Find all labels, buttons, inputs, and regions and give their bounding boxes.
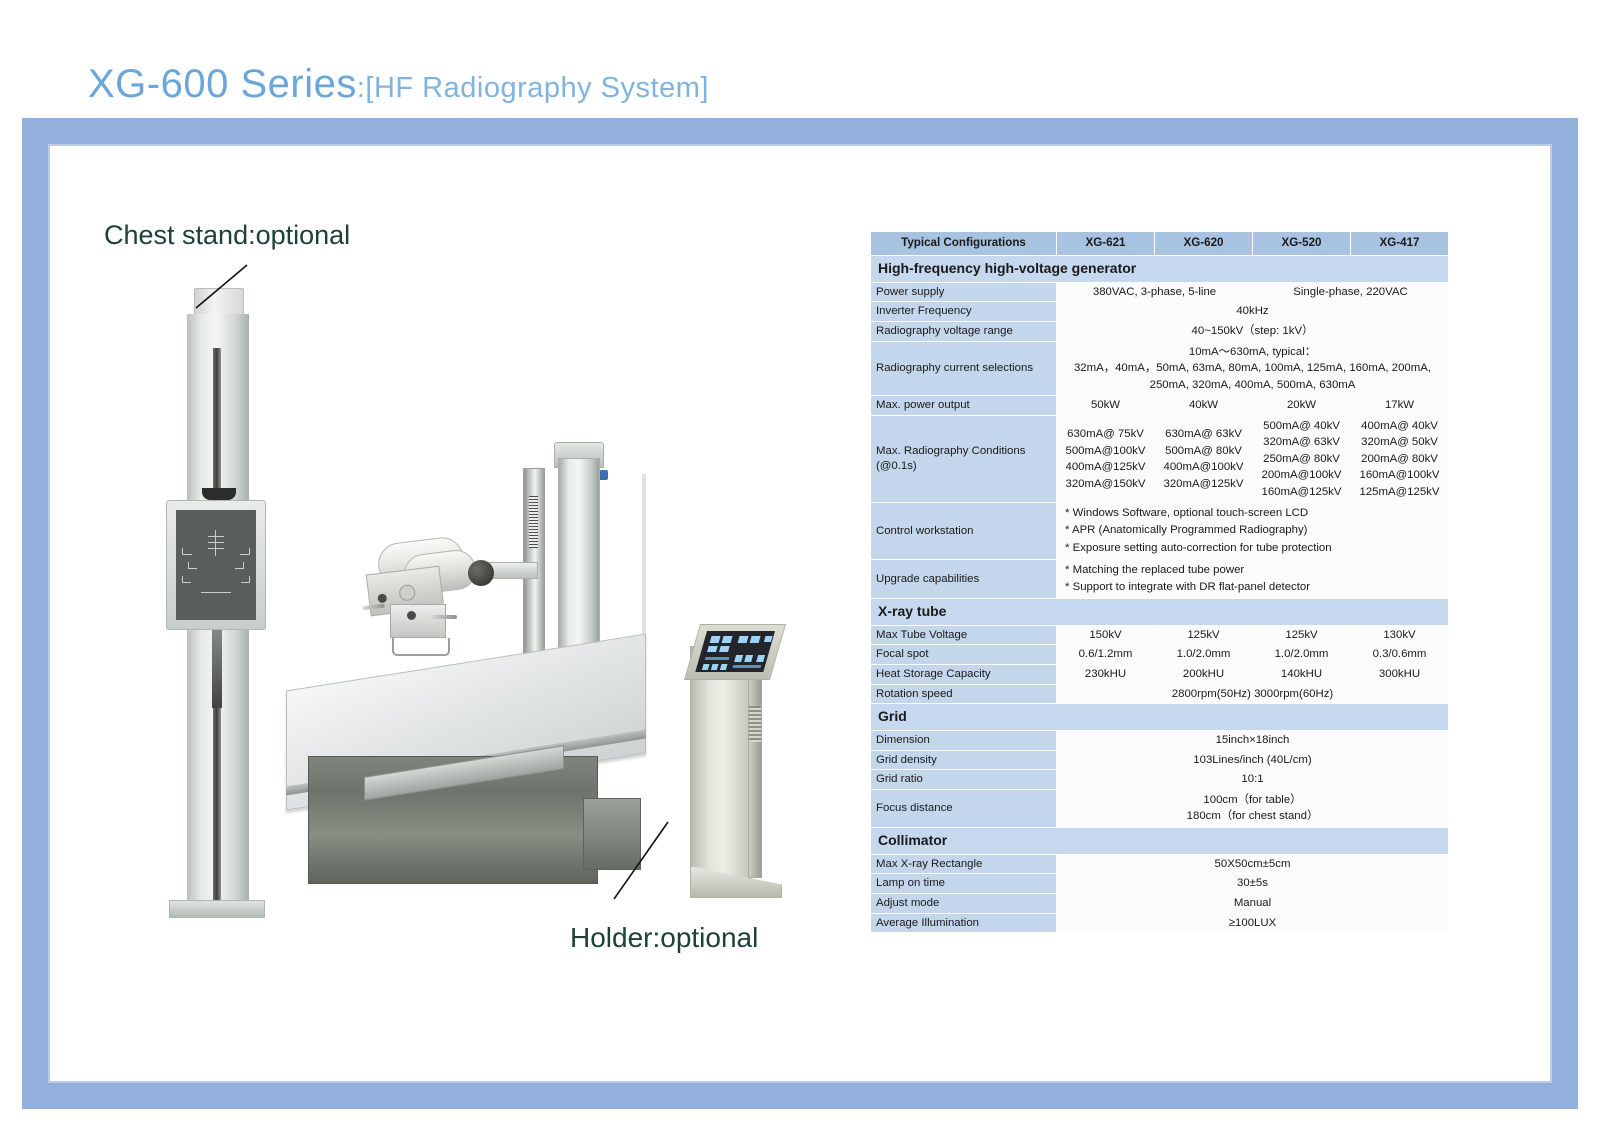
spec-row-label: Max X-ray Rectangle xyxy=(871,854,1057,874)
spec-row-label: Radiography current selections xyxy=(871,341,1057,396)
spec-row: Max Tube Voltage150kV125kV125kV130kV xyxy=(871,625,1449,645)
spec-row: Inverter Frequency40kHz xyxy=(871,302,1449,322)
spec-row-value: 150kV xyxy=(1057,625,1155,645)
spec-row: Rotation speed2800rpm(50Hz) 3000rpm(60Hz… xyxy=(871,684,1449,704)
spec-header-model-xg-417: XG-417 xyxy=(1351,232,1449,256)
spec-row-value: 400mA@ 40kV320mA@ 50kV200mA@ 80kV160mA@1… xyxy=(1351,415,1449,503)
spec-row: Focus distance100cm（for table）180cm（for … xyxy=(871,789,1449,827)
spec-row-value: 30±5s xyxy=(1057,874,1449,894)
chest-stand-clamp xyxy=(202,488,236,500)
spec-row-label: Grid ratio xyxy=(871,770,1057,790)
spec-row-value: 300kHU xyxy=(1351,665,1449,685)
spec-row-label: Max. power output xyxy=(871,396,1057,416)
chest-stand-bucky xyxy=(166,500,266,630)
spec-row-value: 125kV xyxy=(1253,625,1351,645)
chest-stand-image xyxy=(156,288,276,913)
spec-row-label: Control workstation xyxy=(871,503,1057,559)
spec-row-value: 630mA@ 63kV500mA@ 80kV400mA@100kV320mA@1… xyxy=(1155,415,1253,503)
column-scale xyxy=(529,496,538,548)
page-title-main: XG-600 Series xyxy=(88,62,357,106)
spec-row-value: 125kV xyxy=(1155,625,1253,645)
spec-row: Dimension15inch×18inch xyxy=(871,731,1449,751)
spec-row-label: Max. Radiography Conditions(@0.1s) xyxy=(871,415,1057,503)
collimator-bracket xyxy=(392,638,450,656)
page-title: XG-600 Series:[HF Radiography System] xyxy=(88,62,709,107)
spec-row: Adjust modeManual xyxy=(871,894,1449,914)
spec-row: Power supply380VAC, 3-phase, 5-lineSingl… xyxy=(871,282,1449,302)
spec-row-value: 100cm（for table）180cm（for chest stand） xyxy=(1057,789,1449,827)
spec-row-value: 40kHz xyxy=(1057,302,1449,322)
spec-row-value: * Windows Software, optional touch-scree… xyxy=(1057,503,1449,559)
holder-control-head xyxy=(684,624,786,680)
spec-section-row: Collimator xyxy=(871,827,1449,854)
table-base-cabinet xyxy=(308,756,598,884)
spec-section-title: X-ray tube xyxy=(871,598,1449,625)
holder-control-screen xyxy=(695,631,775,672)
spec-row-value: Manual xyxy=(1057,894,1449,914)
spec-row-value: * Matching the replaced tube power* Supp… xyxy=(1057,559,1449,598)
radiography-system-image xyxy=(286,440,706,900)
spec-section-row: X-ray tube xyxy=(871,598,1449,625)
spec-row-value: 200kHU xyxy=(1155,665,1253,685)
spec-row-value: 20kW xyxy=(1253,396,1351,416)
spec-header-config: Typical Configurations xyxy=(871,232,1057,256)
spec-row: Radiography current selections10mA～630mA… xyxy=(871,341,1449,396)
spec-row-value: 1.0/2.0mm xyxy=(1155,645,1253,665)
spec-row-value: 230kHU xyxy=(1057,665,1155,685)
spec-header-model-xg-621: XG-621 xyxy=(1057,232,1155,256)
spec-section-title: Grid xyxy=(871,704,1449,731)
holder-column xyxy=(690,646,752,898)
spec-row-value: 10:1 xyxy=(1057,770,1449,790)
holder-side-rail xyxy=(748,648,762,878)
spec-row-value: 15inch×18inch xyxy=(1057,731,1449,751)
specifications-table: Typical ConfigurationsXG-621XG-620XG-520… xyxy=(870,231,1449,933)
spec-row-value: 50kW xyxy=(1057,396,1155,416)
spec-row-label: Max Tube Voltage xyxy=(871,625,1057,645)
spec-row-label: Grid density xyxy=(871,750,1057,770)
table-end-support xyxy=(583,798,641,870)
spec-row-value: 630mA@ 75kV500mA@100kV400mA@125kV320mA@1… xyxy=(1057,415,1155,503)
spec-row-value: 1.0/2.0mm xyxy=(1253,645,1351,665)
spec-row-label: Radiography voltage range xyxy=(871,321,1057,341)
spec-row-label: Average Illumination xyxy=(871,913,1057,933)
spec-row: Focal spot0.6/1.2mm1.0/2.0mm1.0/2.0mm0.3… xyxy=(871,645,1449,665)
spec-row-label: Focal spot xyxy=(871,645,1057,665)
spec-row-label: Heat Storage Capacity xyxy=(871,665,1057,685)
spec-section-title: Collimator xyxy=(871,827,1449,854)
spec-row: Radiography voltage range40~150kV（step: … xyxy=(871,321,1449,341)
spec-row-label: Lamp on time xyxy=(871,874,1057,894)
spec-row-label: Power supply xyxy=(871,282,1057,302)
spec-section-title: High-frequency high-voltage generator xyxy=(871,255,1449,282)
spec-row-value: 103Lines/inch (40L/cm) xyxy=(1057,750,1449,770)
chest-stand-base xyxy=(169,900,265,918)
spec-row-value: 130kV xyxy=(1351,625,1449,645)
spec-row-value: 50X50cm±5cm xyxy=(1057,854,1449,874)
spec-row: Average Illumination≥100LUX xyxy=(871,913,1449,933)
spec-row-label: Focus distance xyxy=(871,789,1057,827)
spec-row: Control workstation* Windows Software, o… xyxy=(871,503,1449,559)
spec-row-value: 140kHU xyxy=(1253,665,1351,685)
spec-row: Max. Radiography Conditions(@0.1s)630mA@… xyxy=(871,415,1449,503)
spec-row: Lamp on time30±5s xyxy=(871,874,1449,894)
spec-row-value: 0.3/0.6mm xyxy=(1351,645,1449,665)
spec-row-value: ≥100LUX xyxy=(1057,913,1449,933)
holder-grip xyxy=(749,706,761,742)
spec-row: Grid density103Lines/inch (40L/cm) xyxy=(871,750,1449,770)
spec-section-row: Grid xyxy=(871,704,1449,731)
spec-row: Max. power output50kW40kW20kW17kW xyxy=(871,396,1449,416)
spec-row-label: Upgrade capabilities xyxy=(871,559,1057,598)
spec-section-row: High-frequency high-voltage generator xyxy=(871,255,1449,282)
spec-row-value: 40kW xyxy=(1155,396,1253,416)
chest-stand-panel xyxy=(176,510,256,620)
chest-stand-label: Chest stand:optional xyxy=(104,220,350,251)
spec-table-header-row: Typical ConfigurationsXG-621XG-620XG-520… xyxy=(871,232,1449,256)
spec-row-label: Inverter Frequency xyxy=(871,302,1057,322)
spec-row: Upgrade capabilities* Matching the repla… xyxy=(871,559,1449,598)
spec-row: Heat Storage Capacity230kHU200kHU140kHU3… xyxy=(871,665,1449,685)
spec-header-model-xg-520: XG-520 xyxy=(1253,232,1351,256)
holder-label: Holder:optional xyxy=(570,922,758,954)
spec-row-label: Adjust mode xyxy=(871,894,1057,914)
spec-row-value: 380VAC, 3-phase, 5-line xyxy=(1057,282,1253,302)
spec-row-value: 2800rpm(50Hz) 3000rpm(60Hz) xyxy=(1057,684,1449,704)
spec-row-value: 10mA～630mA, typical：32mA，40mA，50mA, 63mA… xyxy=(1057,341,1449,396)
spec-row-label: Rotation speed xyxy=(871,684,1057,704)
spec-row-value: 17kW xyxy=(1351,396,1449,416)
holder-console-image xyxy=(670,598,790,898)
spec-row-value: 500mA@ 40kV320mA@ 63kV250mA@ 80kV200mA@1… xyxy=(1253,415,1351,503)
page-title-sub: :[HF Radiography System] xyxy=(357,72,709,104)
spec-row: Grid ratio10:1 xyxy=(871,770,1449,790)
spec-header-model-xg-620: XG-620 xyxy=(1155,232,1253,256)
spec-row-label: Dimension xyxy=(871,731,1057,751)
spec-row: Max X-ray Rectangle50X50cm±5cm xyxy=(871,854,1449,874)
spec-row-value: Single-phase, 220VAC xyxy=(1253,282,1449,302)
product-illustration-area xyxy=(48,140,848,980)
tube-nose-cone xyxy=(468,560,494,586)
spec-row-value: 0.6/1.2mm xyxy=(1057,645,1155,665)
collimator-lower-housing xyxy=(390,604,446,638)
spec-row-value: 40~150kV（step: 1kV） xyxy=(1057,321,1449,341)
